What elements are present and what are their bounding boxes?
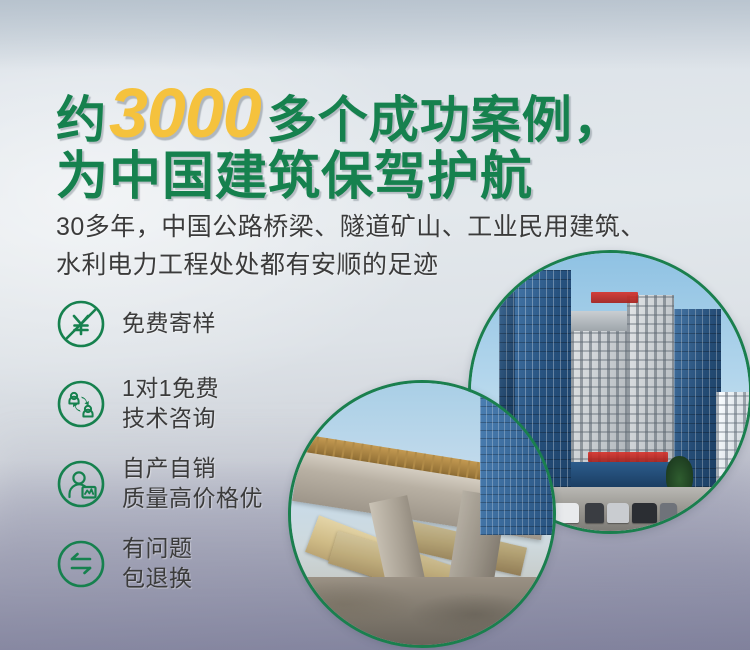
free-sample-icon bbox=[56, 299, 106, 349]
feature-item-free-sample[interactable]: 免费寄样 bbox=[56, 292, 356, 356]
headline-suffix: 多个成功案例， bbox=[267, 92, 624, 148]
feature-label-line-2: 技术咨询 bbox=[122, 404, 219, 434]
adjacent-building-edge bbox=[480, 383, 553, 535]
headline-line-1: 约3000多个成功案例， bbox=[56, 78, 696, 149]
headline-prefix: 约 bbox=[56, 92, 107, 148]
tower-top-band bbox=[571, 311, 627, 330]
feature-label-line-2: 质量高价格优 bbox=[122, 484, 263, 514]
facade-sign bbox=[588, 452, 669, 462]
headline-line-2: 为中国建筑保驾护航 bbox=[56, 151, 696, 204]
return-exchange-icon bbox=[56, 539, 106, 589]
car bbox=[632, 503, 657, 522]
feature-label: 免费寄样 bbox=[122, 309, 216, 339]
feature-list: 免费寄样 bbox=[56, 292, 356, 612]
feature-label: 自产自销 质量高价格优 bbox=[122, 454, 263, 514]
feature-label: 1对1免费 技术咨询 bbox=[122, 374, 219, 434]
feature-label-line-1: 有问题 bbox=[122, 534, 193, 564]
feature-label-line-2: 包退换 bbox=[122, 564, 193, 594]
background-band-top bbox=[0, 0, 750, 70]
car bbox=[554, 503, 579, 522]
feature-item-return-exchange[interactable]: 有问题 包退换 bbox=[56, 532, 356, 596]
feature-label: 有问题 包退换 bbox=[122, 534, 193, 594]
promo-banner: 约3000多个成功案例， 为中国建筑保驾护航 30多年，中国公路桥梁、隧道矿山、… bbox=[0, 0, 750, 650]
feature-item-self-production[interactable]: 自产自销 质量高价格优 bbox=[56, 452, 356, 516]
feature-item-one-to-one-consult[interactable]: 1对1免费 技术咨询 bbox=[56, 372, 356, 436]
feature-label-line-1: 免费寄样 bbox=[122, 309, 216, 339]
rooftop-sign-top bbox=[591, 292, 638, 303]
one-to-one-consult-icon bbox=[56, 379, 106, 429]
headline-number: 3000 bbox=[107, 74, 267, 152]
car bbox=[585, 503, 604, 522]
tower-far-right bbox=[716, 392, 749, 487]
headline: 约3000多个成功案例， 为中国建筑保驾护航 bbox=[56, 78, 696, 204]
car bbox=[660, 503, 677, 522]
podium-base bbox=[571, 462, 674, 487]
description-line-1: 30多年，中国公路桥梁、隧道矿山、工业民用建筑、 bbox=[56, 208, 716, 246]
feature-label-line-1: 1对1免费 bbox=[122, 374, 219, 404]
self-production-icon bbox=[56, 459, 106, 509]
feature-label-line-1: 自产自销 bbox=[122, 454, 263, 484]
car bbox=[607, 503, 629, 522]
